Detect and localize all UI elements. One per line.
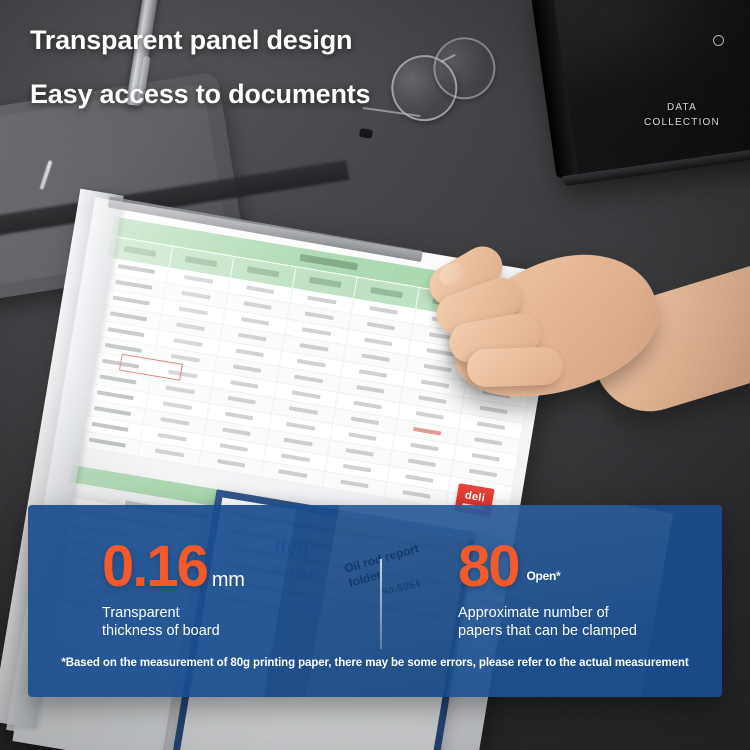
headline-line-1: Transparent panel design <box>30 26 460 54</box>
spec-thickness-number: 0.16 <box>102 539 207 595</box>
panel-footnote: *Based on the measurement of 80g printin… <box>28 657 722 669</box>
spec-thickness-description: Transparent thickness of board <box>102 604 245 640</box>
spec-thickness-unit: mm <box>212 569 245 592</box>
headline-block: Transparent panel design Easy access to … <box>30 26 460 109</box>
spec-capacity-value: 80 Open* <box>458 539 637 595</box>
spec-capacity: 80 Open* Approximate number of papers th… <box>458 539 637 640</box>
spec-thickness: 0.16 mm Transparent thickness of board <box>102 539 245 640</box>
spec-capacity-desc-line1: Approximate number of <box>458 604 637 622</box>
product-marketing-image: DATA COLLECTION <box>0 0 750 750</box>
spec-columns: 0.16 mm Transparent thickness of board 8… <box>28 505 722 651</box>
spec-capacity-desc-line2: papers that can be clamped <box>458 622 637 640</box>
specification-panel: Oil rod report folder No.5854 0.16 mm Tr… <box>28 505 722 697</box>
spec-thickness-value: 0.16 mm <box>102 539 245 595</box>
spec-capacity-number: 80 <box>458 539 519 595</box>
spec-capacity-unit: Open* <box>527 569 561 583</box>
spec-thickness-desc-line1: Transparent <box>102 604 245 622</box>
spec-thickness-desc-line2: thickness of board <box>102 622 245 640</box>
headline-line-2: Easy access to documents <box>30 80 460 108</box>
spec-capacity-description: Approximate number of papers that can be… <box>458 604 637 640</box>
